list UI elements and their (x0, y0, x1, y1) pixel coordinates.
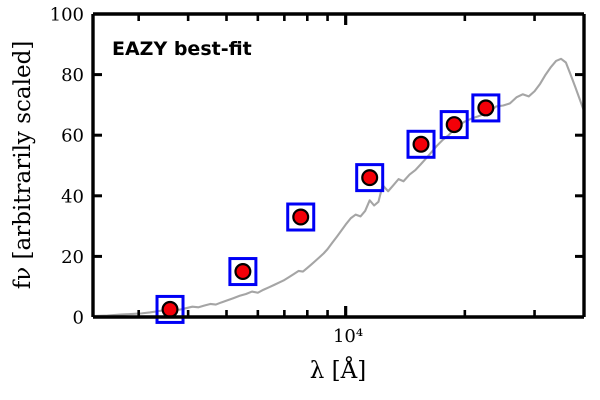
y-tick-label: 100 (50, 5, 84, 26)
eazy-sed-figure: 020406080100 10⁴ λ [Å] fν [arbitrarily s… (0, 0, 600, 400)
x-tick-label-text: 10⁴ (333, 326, 363, 347)
photometry-circle-marker (447, 117, 462, 132)
y-tick-label: 20 (61, 247, 84, 268)
photometry-circle-marker (414, 137, 429, 152)
x-axis-label: λ [Å] (310, 356, 366, 384)
y-tick-label: 60 (61, 126, 84, 147)
photometry-circle-marker (163, 302, 178, 317)
annotation-eazy-best-fit: EAZY best-fit (112, 38, 252, 60)
x-tick-label-1e4: 10⁴ (333, 326, 363, 347)
photometry-circle-marker (478, 101, 493, 116)
y-tick-label: 0 (73, 308, 84, 329)
y-tick-label: 80 (61, 65, 84, 86)
photometry-circle-marker (235, 264, 250, 279)
photometry-circle-marker (293, 210, 308, 225)
y-tick-label: 40 (61, 186, 84, 207)
y-axis-label: fν [arbitrarily scaled] (10, 41, 36, 290)
y-tick-label-group: 020406080100 (50, 5, 84, 329)
photometry-circle-marker (362, 170, 377, 185)
